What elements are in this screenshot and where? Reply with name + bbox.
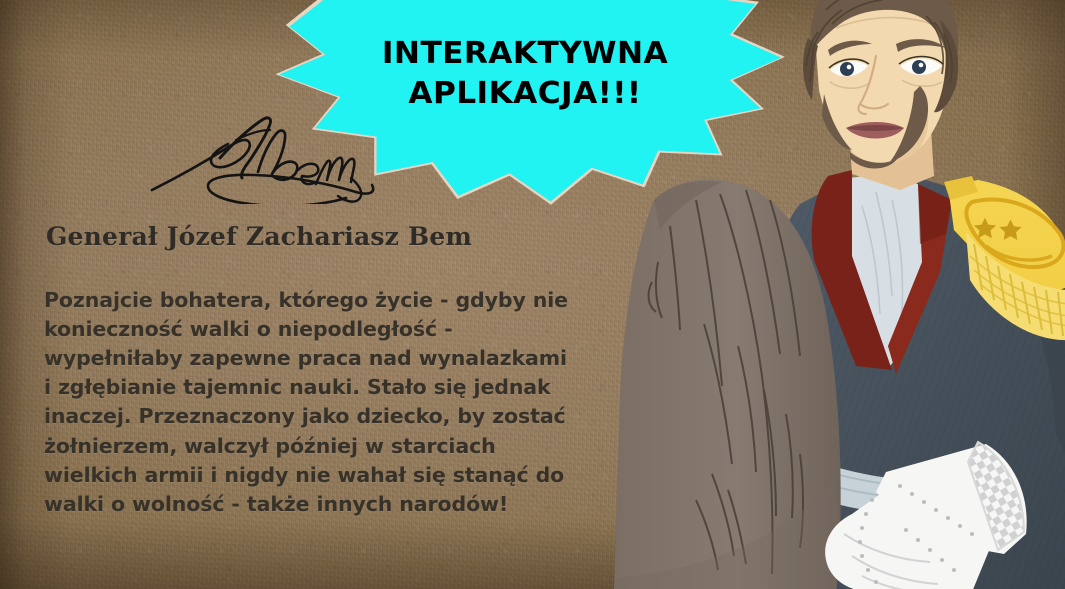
poster-canvas: INTERAKTYWNA APLIKACJA!!! bbox=[0, 0, 1065, 589]
page-title: Generał Józef Zachariasz Bem bbox=[46, 222, 472, 251]
body-line: walki o wolność - także innych narodów! bbox=[44, 490, 604, 519]
starburst-text: INTERAKTYWNA APLIKACJA!!! bbox=[255, 34, 796, 114]
body-line: konieczność walki o niepodległość - bbox=[44, 315, 604, 344]
body-text: Poznajcie bohatera, którego życie - gdyb… bbox=[44, 286, 604, 519]
body-line: Poznajcie bohatera, którego życie - gdyb… bbox=[44, 286, 604, 315]
body-line: inaczej. Przeznaczony jako dziecko, by z… bbox=[44, 402, 604, 431]
body-line: wypełniłaby zapewne praca nad wynalazkam… bbox=[44, 344, 604, 373]
starburst-line-1: INTERAKTYWNA bbox=[255, 34, 796, 74]
starburst-line-2: APLIKACJA!!! bbox=[255, 74, 796, 114]
head bbox=[816, 0, 951, 190]
body-line: wielkich armii i nigdy nie wahał się sta… bbox=[44, 461, 604, 490]
body-line: i zgłębianie tajemnic nauki. Stało się j… bbox=[44, 373, 604, 402]
body-line: żołnierzem, walczył później w starciach bbox=[44, 432, 604, 461]
signature-jozef-bem bbox=[150, 112, 390, 204]
